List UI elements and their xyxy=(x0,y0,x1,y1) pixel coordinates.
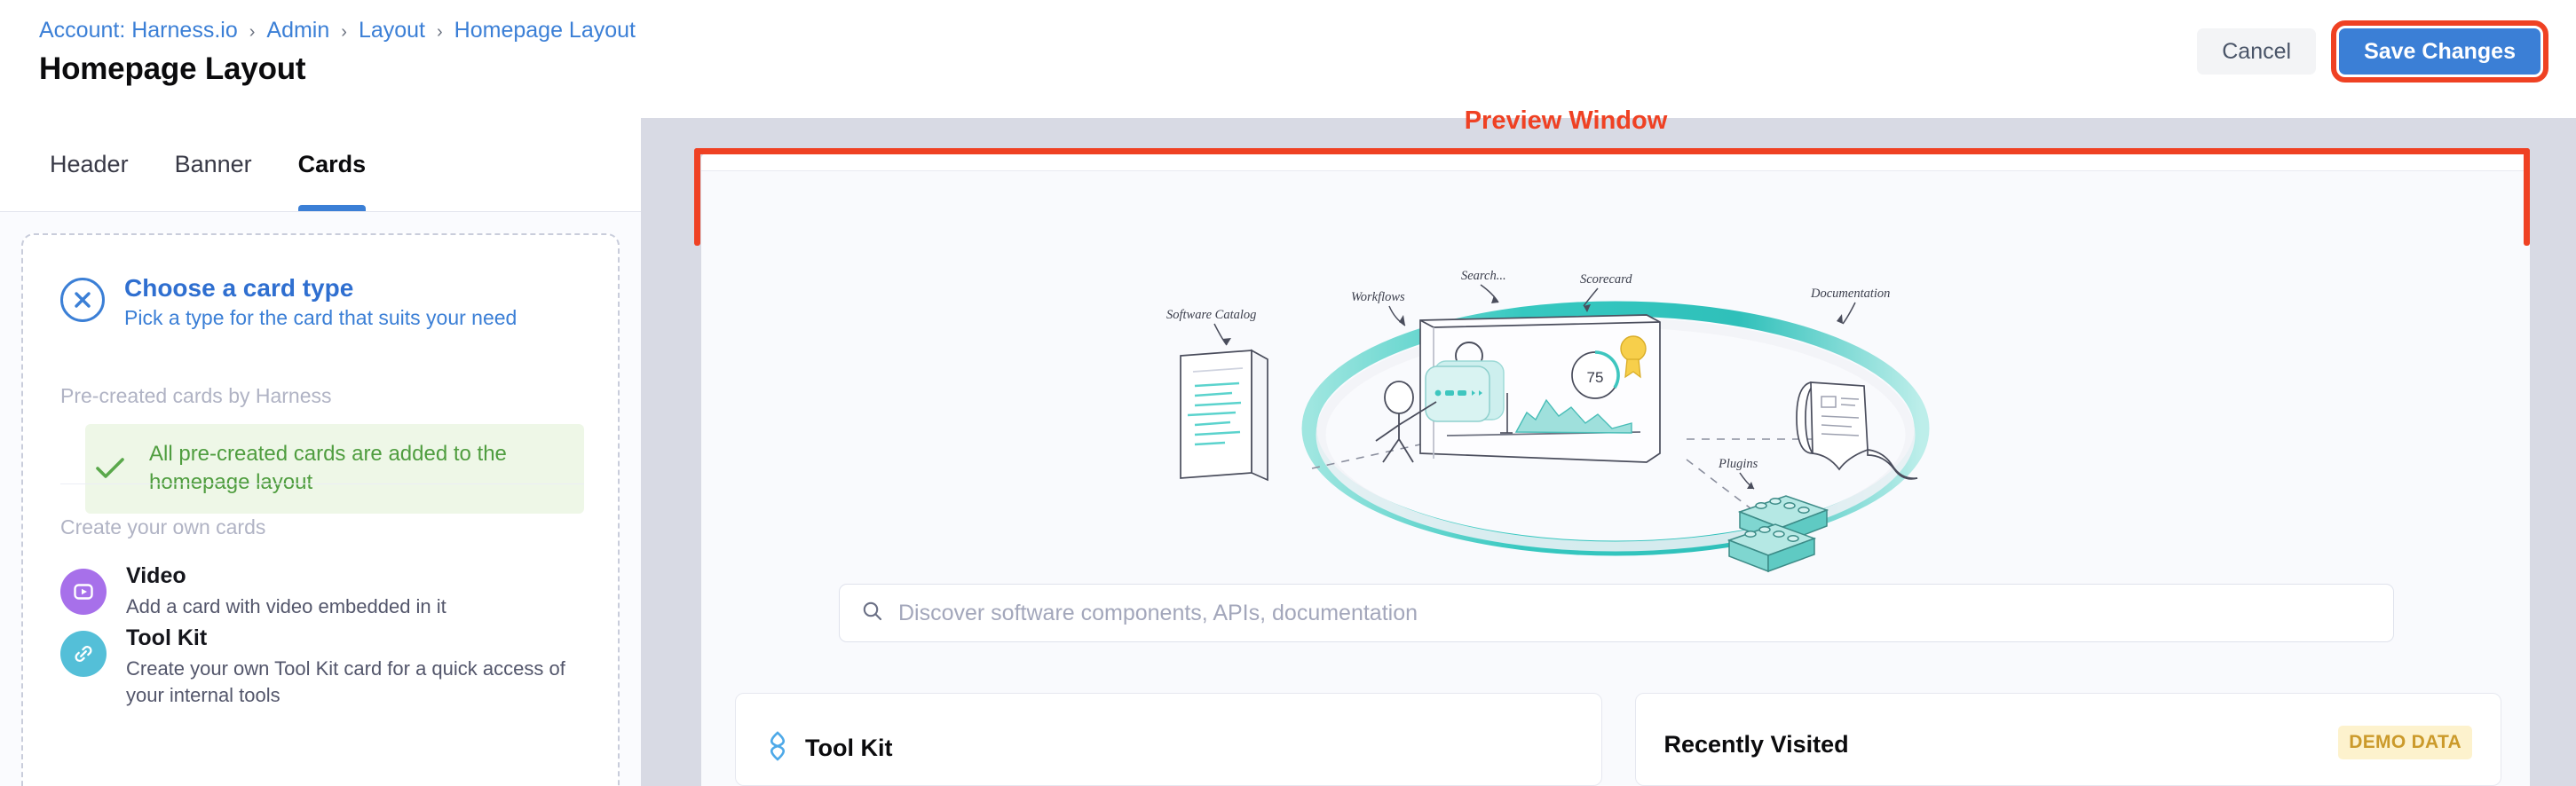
cancel-button[interactable]: Cancel xyxy=(2197,28,2316,75)
check-icon xyxy=(85,456,135,481)
preview-card-toolkit-header: Tool Kit xyxy=(764,731,892,766)
page-title: Homepage Layout xyxy=(39,51,305,87)
tab-cards[interactable]: Cards xyxy=(275,117,390,211)
breadcrumb: Account: Harness.io › Admin › Layout › H… xyxy=(39,18,636,43)
preview-card-recently-visited-header: Recently Visited xyxy=(1664,731,1849,758)
preview-card-toolkit-title: Tool Kit xyxy=(805,735,892,762)
section-label-precreated: Pre-created cards by Harness xyxy=(60,384,332,408)
breadcrumb-item-layout[interactable]: Layout xyxy=(359,18,425,43)
save-changes-button[interactable]: Save Changes xyxy=(2339,28,2540,75)
preview-card-grid: Tool Kit Recently Visited DEMO DATA xyxy=(735,693,2501,786)
breadcrumb-separator-icon: › xyxy=(437,23,443,41)
svg-text:Search...: Search... xyxy=(1461,269,1506,283)
card-option-toolkit[interactable]: Tool Kit Create your own Tool Kit card f… xyxy=(60,625,593,708)
svg-text:Plugins: Plugins xyxy=(1718,457,1758,471)
chooser-title: Choose a card type xyxy=(124,274,517,303)
panel-scroll-area[interactable]: Choose a card type Pick a type for the c… xyxy=(0,212,641,786)
tab-banner[interactable]: Banner xyxy=(152,117,275,211)
card-type-chooser: Choose a card type Pick a type for the c… xyxy=(21,233,620,786)
card-option-video-title: Video xyxy=(126,563,446,589)
svg-text:75: 75 xyxy=(1587,369,1604,386)
section-divider xyxy=(60,483,584,484)
card-option-toolkit-description: Create your own Tool Kit card for a quic… xyxy=(126,656,570,708)
preview-annotation-border-right xyxy=(2524,148,2530,246)
breadcrumb-item-homepage-layout[interactable]: Homepage Layout xyxy=(454,18,636,43)
video-play-icon xyxy=(60,569,107,615)
preview-card-recently-visited[interactable]: Recently Visited DEMO DATA xyxy=(1635,693,2502,786)
chooser-header: Choose a card type Pick a type for the c… xyxy=(60,274,517,330)
header-actions: Cancel Save Changes xyxy=(2197,28,2540,75)
breadcrumb-item-admin[interactable]: Admin xyxy=(266,18,329,43)
toolkit-diamond-icon xyxy=(764,731,791,766)
svg-text:Documentation: Documentation xyxy=(1810,287,1890,301)
svg-text:Scorecard: Scorecard xyxy=(1580,272,1632,287)
save-button-wrapper: Save Changes xyxy=(2339,28,2540,75)
breadcrumb-separator-icon: › xyxy=(341,23,347,41)
section-label-own-cards: Create your own cards xyxy=(60,515,265,539)
preview-search-bar[interactable]: Discover software components, APIs, docu… xyxy=(839,584,2394,642)
demo-data-badge: DEMO DATA xyxy=(2338,726,2472,759)
preview-card-toolkit[interactable]: Tool Kit xyxy=(735,693,1602,786)
app-header: Account: Harness.io › Admin › Layout › H… xyxy=(0,0,2576,118)
chooser-subtitle: Pick a type for the card that suits your… xyxy=(124,306,517,330)
link-chain-icon xyxy=(60,631,107,677)
precreated-success-banner: All pre-created cards are added to the h… xyxy=(85,424,584,514)
tab-header[interactable]: Header xyxy=(0,117,152,211)
breadcrumb-item-account[interactable]: Account: Harness.io xyxy=(39,18,238,43)
card-option-video-description: Add a card with video embedded in it xyxy=(126,593,446,620)
card-option-toolkit-title: Tool Kit xyxy=(126,625,570,651)
chooser-title-block: Choose a card type Pick a type for the c… xyxy=(124,274,517,330)
preview-annotation-border-top xyxy=(694,148,2530,154)
tab-bar: Header Banner Cards xyxy=(0,118,641,212)
search-icon xyxy=(861,600,884,627)
card-option-video-texts: Video Add a card with video embedded in … xyxy=(126,563,446,620)
precreated-success-text: All pre-created cards are added to the h… xyxy=(149,440,531,496)
preview-annotation-border-left xyxy=(694,148,700,246)
preview-right-gutter xyxy=(2530,118,2576,786)
svg-text:Software Catalog: Software Catalog xyxy=(1166,308,1256,322)
card-option-toolkit-texts: Tool Kit Create your own Tool Kit card f… xyxy=(126,625,570,708)
preview-card-recently-visited-title: Recently Visited xyxy=(1664,731,1849,758)
hero-illustration: 75 xyxy=(1154,251,2077,584)
preview-window: 75 xyxy=(701,153,2530,786)
svg-text:Workflows: Workflows xyxy=(1351,290,1405,304)
preview-window-annotation-label: Preview Window xyxy=(1433,106,1699,136)
preview-search-placeholder: Discover software components, APIs, docu… xyxy=(898,601,1418,626)
breadcrumb-separator-icon: › xyxy=(249,23,256,41)
close-circle-icon[interactable] xyxy=(60,278,105,322)
left-config-panel: Header Banner Cards Choose a card type P… xyxy=(0,118,641,786)
card-option-video[interactable]: Video Add a card with video embedded in … xyxy=(60,563,593,620)
preview-window-topbar xyxy=(701,153,2530,171)
